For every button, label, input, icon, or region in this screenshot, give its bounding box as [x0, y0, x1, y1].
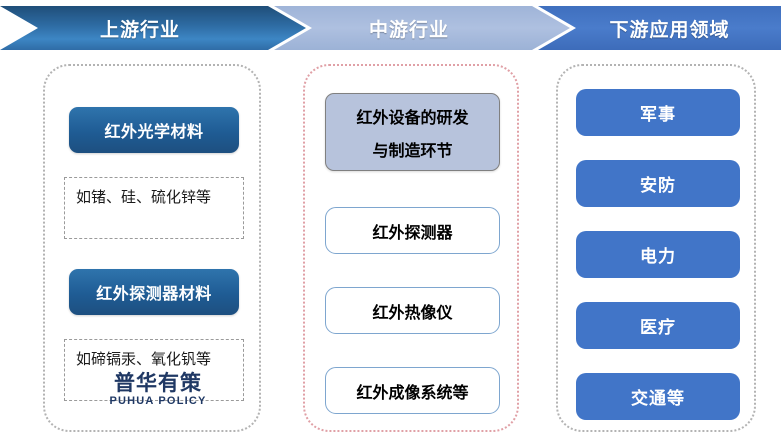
upstream-group-detector-material-detail: 如碲镉汞、氧化钒等	[64, 339, 244, 401]
midstream-item-imaging-system: 红外成像系统等	[325, 367, 500, 414]
midstream-main-line1: 红外设备的研发	[356, 104, 468, 128]
upstream-group-optical-material-title: 红外光学材料	[69, 107, 239, 153]
upstream-group-detector-material-title: 红外探测器材料	[69, 269, 239, 315]
chevron-midstream: 中游行业	[274, 6, 570, 50]
downstream-item-transportation: 交通等	[576, 373, 740, 420]
upstream-group-optical-material-detail: 如锗、硅、硫化锌等	[64, 177, 244, 239]
chevron-downstream: 下游应用领域	[538, 6, 781, 50]
industry-chain-header: 上游行业 中游行业 下游应用领域	[0, 6, 781, 50]
downstream-item-power: 电力	[576, 231, 740, 278]
downstream-item-security: 安防	[576, 160, 740, 207]
downstream-item-medical: 医疗	[576, 302, 740, 349]
downstream-column: 军事 安防 电力 医疗 交通等	[556, 64, 756, 432]
upstream-column: 红外光学材料 如锗、硅、硫化锌等 红外探测器材料 如碲镉汞、氧化钒等	[43, 64, 261, 432]
midstream-main-box: 红外设备的研发 与制造环节	[325, 93, 500, 171]
downstream-item-military: 军事	[576, 89, 740, 136]
chevron-upstream: 上游行业	[0, 6, 306, 50]
midstream-item-detector: 红外探测器	[325, 207, 500, 254]
midstream-item-thermal-imager: 红外热像仪	[325, 287, 500, 334]
midstream-main-line2: 与制造环节	[372, 137, 452, 161]
midstream-column: 红外设备的研发 与制造环节 红外探测器 红外热像仪 红外成像系统等	[303, 64, 519, 432]
